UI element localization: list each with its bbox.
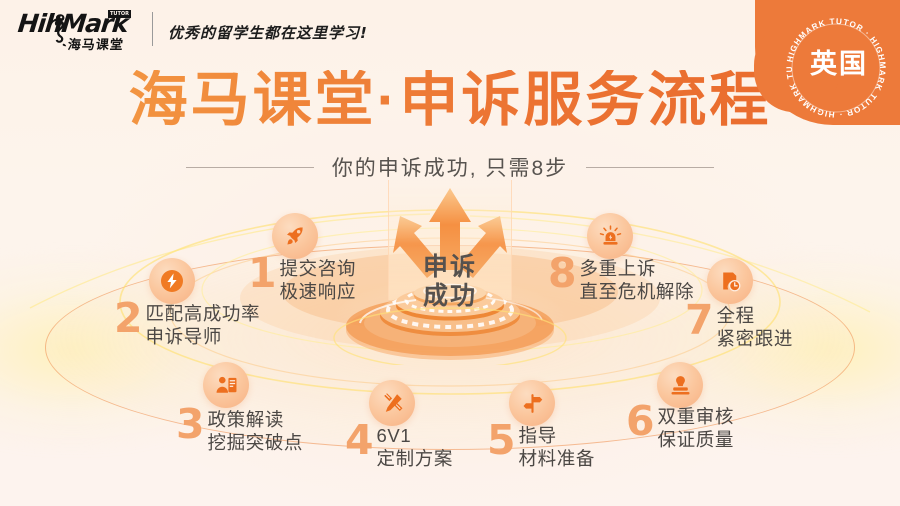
step-6-body: 6 双重审核 保证质量 bbox=[626, 403, 734, 452]
logo-chinese-name: 海马课堂 bbox=[67, 34, 125, 53]
step-7-lines: 全程 紧密跟进 bbox=[717, 302, 793, 351]
step-3-body: 3 政策解读 挖掘突破点 bbox=[176, 406, 303, 455]
pencil-ruler-icon bbox=[369, 380, 415, 426]
person-document-icon bbox=[203, 362, 249, 408]
step-6-number: 6 bbox=[626, 403, 655, 441]
step-4-line-1: 6V1 bbox=[377, 424, 453, 447]
step-1-line-2: 极速响应 bbox=[280, 280, 356, 303]
step-3-line-2: 挖掘突破点 bbox=[208, 431, 304, 454]
step-6-line-2: 保证质量 bbox=[658, 428, 734, 451]
stamp-icon bbox=[657, 362, 703, 408]
logo-trademark: TUTOR bbox=[108, 10, 131, 18]
document-clock-icon bbox=[707, 258, 753, 304]
step-1-number: 1 bbox=[248, 255, 277, 293]
step-4-body: 4 6V1 定制方案 bbox=[345, 422, 453, 471]
page-subtitle: 你的申诉成功, 只需8步 bbox=[332, 152, 568, 182]
step-5-body: 5 指导 材料准备 bbox=[487, 422, 595, 471]
seahorse-icon bbox=[51, 13, 69, 47]
center-label-line2: 成功 bbox=[330, 282, 570, 311]
signpost-icon bbox=[509, 380, 555, 426]
step-4-line-2: 定制方案 bbox=[377, 447, 453, 470]
center-success-graphic: 申诉 成功 bbox=[330, 180, 570, 365]
step-2-number: 2 bbox=[114, 300, 143, 338]
step-3-number: 3 bbox=[176, 406, 205, 444]
step-1-line-1: 提交咨询 bbox=[280, 257, 356, 280]
step-7-body: 7 全程 紧密跟进 bbox=[685, 302, 793, 351]
step-5-line-2: 材料准备 bbox=[519, 447, 595, 470]
country-badge: HIGHMARK TUTOR · HIGHMARK TUTOR · HIGHMA… bbox=[755, 0, 900, 125]
step-7-number: 7 bbox=[685, 302, 714, 340]
step-3-lines: 政策解读 挖掘突破点 bbox=[208, 406, 304, 455]
step-8-lines: 多重上诉 直至危机解除 bbox=[580, 255, 695, 304]
step-8-number: 8 bbox=[548, 255, 577, 293]
step-4-lines: 6V1 定制方案 bbox=[377, 422, 453, 471]
step-1-body: 1 提交咨询 极速响应 bbox=[248, 255, 356, 304]
rocket-icon bbox=[272, 213, 318, 259]
step-2-body: 2 匹配高成功率 申诉导师 bbox=[114, 300, 260, 349]
step-6-line-1: 双重审核 bbox=[658, 405, 734, 428]
infographic-canvas: HihMark HihMark TUTOR 海马课堂 优秀的留学生都在这里学习!… bbox=[0, 0, 900, 506]
step-8-line-1: 多重上诉 bbox=[580, 257, 695, 280]
subtitle-rule-right bbox=[586, 167, 714, 168]
badge-country-label: 英国 bbox=[810, 42, 868, 81]
step-1-lines: 提交咨询 极速响应 bbox=[280, 255, 356, 304]
step-8-line-2: 直至危机解除 bbox=[580, 280, 695, 303]
step-5-line-1: 指导 bbox=[519, 424, 595, 447]
step-7-line-1: 全程 bbox=[717, 304, 793, 327]
step-3-line-1: 政策解读 bbox=[208, 408, 304, 431]
step-2-lines: 匹配高成功率 申诉导师 bbox=[146, 300, 261, 349]
step-6-lines: 双重审核 保证质量 bbox=[658, 403, 734, 452]
step-8-body: 8 多重上诉 直至危机解除 bbox=[548, 255, 694, 304]
step-2-line-2: 申诉导师 bbox=[146, 325, 261, 348]
step-5-number: 5 bbox=[487, 422, 516, 460]
subtitle-row: 你的申诉成功, 只需8步 bbox=[0, 152, 900, 182]
step-4-number: 4 bbox=[345, 422, 374, 460]
center-label-line1: 申诉 bbox=[330, 253, 570, 282]
step-5-lines: 指导 材料准备 bbox=[519, 422, 595, 471]
header-divider bbox=[152, 12, 153, 46]
step-7-line-2: 紧密跟进 bbox=[717, 327, 793, 350]
lightning-bolt-icon bbox=[149, 258, 195, 304]
alarm-siren-icon bbox=[587, 213, 633, 259]
brand-logo[interactable]: HihMark HihMark TUTOR 海马课堂 bbox=[18, 9, 144, 51]
center-success-label: 申诉 成功 bbox=[330, 253, 570, 311]
header-tagline: 优秀的留学生都在这里学习! bbox=[168, 22, 368, 43]
step-2-line-1: 匹配高成功率 bbox=[146, 302, 261, 325]
subtitle-rule-left bbox=[186, 167, 314, 168]
